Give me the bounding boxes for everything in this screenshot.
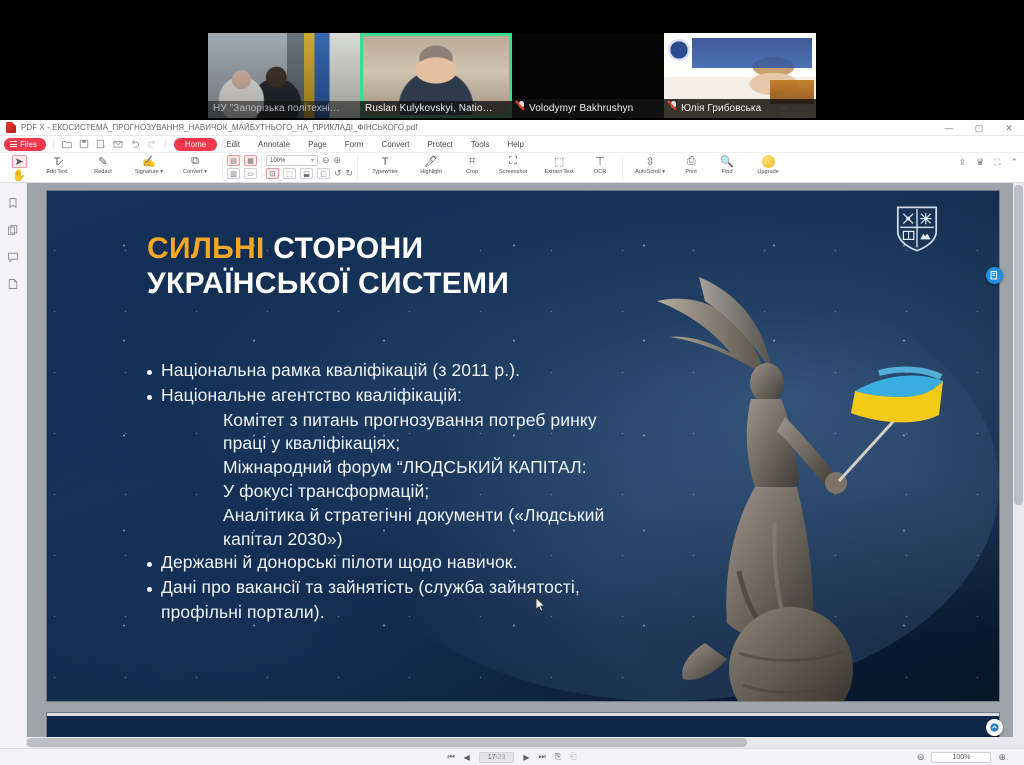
toolbar-ocr-label: OCR <box>594 169 606 175</box>
horizontal-scrollbar[interactable] <box>27 737 1013 748</box>
toolbar-redact[interactable]: ✎ Redact <box>80 155 126 175</box>
rotate-left-icon[interactable]: ↺ <box>334 168 342 179</box>
participant-tile-1[interactable]: НУ "Запорізька політехні… <box>208 33 360 118</box>
bullet-dot-icon <box>147 395 152 400</box>
crop-icon: ⌗ <box>469 155 475 168</box>
slide-title: СИЛЬНІ СТОРОНИ УКРАЇНСЬКОЇ СИСТЕМИ <box>147 231 509 302</box>
participant-tile-4[interactable]: ДАЄ СТАРТ РОЗВИТКУ Юлія Грибовська <box>664 33 816 118</box>
status-zoom-value[interactable]: 100% <box>931 752 991 763</box>
toolbar-divider <box>222 156 223 179</box>
status-zoom-controls: ⊖ 100% ⊕ <box>917 752 1006 763</box>
zoom-video-strip: НУ "Запорізька політехні… Ruslan Kulykov… <box>0 0 1024 120</box>
vertical-scrollbar[interactable] <box>1013 183 1024 748</box>
select-cursor-icon[interactable]: ➤ <box>12 155 27 168</box>
pdf-page-17[interactable]: СИЛЬНІ СТОРОНИ УКРАЇНСЬКОЇ СИСТЕМИ Націо… <box>47 191 999 701</box>
total-pages-value: 23 <box>498 754 506 761</box>
toolbar-signature[interactable]: ✍ Signature ▾ <box>126 155 172 175</box>
tab-page[interactable]: Page <box>299 138 336 151</box>
vertical-scrollbar-thumb[interactable] <box>1014 185 1023 505</box>
toolbar-group-selection: ➤ ✋ <box>4 155 34 182</box>
toolbar-highlight[interactable]: 🖊 Highlight <box>408 155 454 175</box>
zoom-level-value: 100% <box>270 158 285 164</box>
zoom-out-icon[interactable]: ⊖ <box>322 155 330 166</box>
extract-text-icon: ⬚ <box>554 155 564 168</box>
single-page-view-icon[interactable]: ▤ <box>227 155 240 166</box>
muted-mic-icon <box>517 101 526 112</box>
book-view-icon[interactable]: ▭ <box>244 168 257 179</box>
ai-assistant-button[interactable] <box>986 267 1003 284</box>
document-scroll-region[interactable]: СИЛЬНІ СТОРОНИ УКРАЇНСЬКОЇ СИСТЕМИ Націо… <box>27 183 1024 748</box>
toolbar-ocr[interactable]: ⊤ OCR <box>582 155 618 175</box>
toolbar-find-label: Find <box>722 169 733 175</box>
window-title: PDF X - ЕКОСИСТЕМА_ПРОГНОЗУВАННЯ_НАВИЧОК… <box>21 123 418 132</box>
pdf-reader-window: PDF X - ЕКОСИСТЕМА_ПРОГНОЗУВАННЯ_НАВИЧОК… <box>0 120 1024 765</box>
close-button[interactable]: ✕ <box>994 120 1024 136</box>
left-sidebar-rail <box>0 183 27 748</box>
email-icon[interactable] <box>113 139 123 149</box>
ribbon-right-icons: ⇪ ♛ ⛶ ⌃ <box>959 157 1018 168</box>
ai-assistant-icon <box>989 270 1000 281</box>
rotate-right-icon[interactable]: ↻ <box>346 168 354 179</box>
two-page-view-icon[interactable]: ▥ <box>227 168 240 179</box>
quick-access-toolbar <box>53 139 166 149</box>
page-layout-icon[interactable]: ⎗ <box>570 752 576 762</box>
autoscroll-icon: ⇳ <box>645 155 654 168</box>
participant-name-3: Volodymyr Bakhrushyn <box>512 99 664 118</box>
tab-annotate[interactable]: Annotate <box>249 138 299 151</box>
slide-title-highlight: СИЛЬНІ <box>147 232 265 265</box>
toolbar-edit-text-label: Edit Text <box>46 169 67 175</box>
zoom-in-icon[interactable]: ⊕ <box>334 155 342 166</box>
edit-text-icon: T̷ <box>54 155 61 168</box>
fullscreen-icon[interactable]: ⛶ <box>994 157 1000 168</box>
redo-icon[interactable] <box>147 139 157 149</box>
previous-page-icon[interactable]: ◀ <box>464 753 470 762</box>
bullet-text: Дані про вакансії та зайнятість (служба … <box>161 576 580 600</box>
current-page-value: 17 <box>488 754 496 761</box>
toolbar-divider <box>261 156 262 179</box>
participant-name-1: НУ "Запорізька політехні… <box>208 101 360 118</box>
open-folder-icon[interactable] <box>62 139 72 149</box>
ocr-icon: ⊤ <box>595 155 605 168</box>
fit-actual-size-icon[interactable]: ⊡ <box>266 168 279 179</box>
bookmarks-icon[interactable] <box>7 197 19 209</box>
zoom-out-icon[interactable]: ⊖ <box>917 752 925 763</box>
toolbar-convert-label: Convert ▾ <box>183 169 207 175</box>
tab-edit[interactable]: Edit <box>217 138 249 151</box>
document-area: СИЛЬНІ СТОРОНИ УКРАЇНСЬКОЇ СИСТЕМИ Націо… <box>0 183 1024 748</box>
toolbar-highlight-label: Highlight <box>420 169 442 175</box>
toolbar-divider <box>357 156 358 179</box>
slide-title-rest: СТОРОНИ <box>265 232 424 265</box>
typewriter-icon: T <box>382 155 389 168</box>
crown-icon[interactable]: ♛ <box>976 157 984 168</box>
toolbar-print-label: Print <box>685 169 697 175</box>
maximize-button[interactable]: ▢ <box>964 120 994 136</box>
ribbon-tabs: Files Home Edit Annotate Page Form Conve… <box>0 136 1024 153</box>
toolbar-typewriter[interactable]: T Typewriter <box>362 155 408 175</box>
institute-banner <box>692 38 812 68</box>
bullet-text: Державні й донорські пілоти щодо навичок… <box>161 551 518 575</box>
ribbon-toolbar: ➤ ✋ T̷ Edit Text ✎ Redact ✍ Signature ▾ … <box>0 153 1024 183</box>
save-icon[interactable] <box>79 139 89 149</box>
attachments-icon[interactable] <box>7 278 19 290</box>
slide-title-line-2: УКРАЇНСЬКОЇ СИСТЕМИ <box>147 266 509 301</box>
next-page-icon[interactable]: ▶ <box>523 753 529 762</box>
hand-pan-icon[interactable]: ✋ <box>12 169 26 182</box>
toolbar-screenshot-label: Screenshot <box>499 169 527 175</box>
zoom-level-input[interactable]: 100%▾ <box>266 155 318 166</box>
screen: НУ "Запорізька політехні… Ruslan Kulykov… <box>0 0 1024 765</box>
slide-title-line-1: СИЛЬНІ СТОРОНИ <box>147 231 509 266</box>
muted-mic-icon <box>669 101 678 112</box>
toolbar-print[interactable]: ⎙ Print <box>673 155 709 175</box>
participant-tile-2[interactable]: Ruslan Kulykovskyi, Natio… <box>360 33 512 118</box>
hamburger-icon <box>10 141 17 147</box>
tab-form[interactable]: Form <box>336 138 373 151</box>
zoom-in-icon[interactable]: ⊕ <box>998 752 1006 763</box>
signature-icon: ✍ <box>142 155 156 168</box>
bullet-dot-icon <box>147 562 152 567</box>
bullet-text: Національне агентство кваліфікацій: <box>161 384 462 408</box>
goto-page-icon[interactable]: ⎘ <box>555 752 561 762</box>
page-navigation: ⏮ ◀ 17/23 ▶ ⏭ ⎘ ⎗ <box>447 752 576 763</box>
save-as-icon[interactable] <box>96 139 106 149</box>
share-icon[interactable]: ⇪ <box>959 157 967 168</box>
toolbar-extract-text-label: Extract Text <box>545 169 574 175</box>
participant-name-2: Ruslan Kulykovskyi, Natio… <box>360 101 512 118</box>
toolbar-find[interactable]: 🔍 Find <box>709 155 745 175</box>
status-bar: ⏮ ◀ 17/23 ▶ ⏭ ⎘ ⎗ ⊖ 100% ⊕ <box>0 748 1024 765</box>
toolbar-upgrade-label: Upgrade <box>757 169 778 175</box>
participant-tile-3[interactable]: Volodymyr Bakhrushyn <box>512 33 664 118</box>
page-number-input[interactable]: 17/23 <box>479 752 515 763</box>
toolbar-convert[interactable]: ⧉ Convert ▾ <box>172 155 218 175</box>
feedback-button[interactable] <box>986 719 1003 736</box>
redact-icon: ✎ <box>98 155 107 168</box>
toolbar-edit-text[interactable]: T̷ Edit Text <box>34 155 80 175</box>
comments-icon[interactable] <box>7 251 19 263</box>
tab-home[interactable]: Home <box>174 138 217 151</box>
toolbar-screenshot[interactable]: ⛶ Screenshot <box>490 155 536 175</box>
find-icon: 🔍 <box>720 155 734 168</box>
fit-page-icon[interactable]: ⬚ <box>283 168 296 179</box>
toolbar-extract-text[interactable]: ⬚ Extract Text <box>536 155 582 175</box>
fit-width-icon[interactable]: ⬓ <box>300 168 313 179</box>
collapse-ribbon-icon[interactable]: ⌃ <box>1010 157 1018 168</box>
toolbar-signature-label: Signature ▾ <box>135 169 163 175</box>
participant-name-4: Юлія Грибовська <box>664 99 816 118</box>
thumbnails-icon[interactable] <box>7 224 19 236</box>
window-titlebar: PDF X - ЕКОСИСТЕМА_ПРОГНОЗУВАННЯ_НАВИЧОК… <box>0 120 1024 136</box>
tab-help[interactable]: Help <box>498 138 532 151</box>
files-label: Files <box>20 140 37 149</box>
mouse-cursor-icon <box>535 597 546 612</box>
toolbar-crop-label: Crop <box>466 169 478 175</box>
highlight-icon: 🖊 <box>424 155 438 168</box>
toolbar-typewriter-label: Typewriter <box>372 169 398 175</box>
university-coat-of-arms-icon <box>893 204 941 254</box>
toolbar-redact-label: Redact <box>94 169 112 175</box>
toolbar-upgrade[interactable]: Upgrade <box>745 155 791 175</box>
pdf-document-icon <box>6 122 16 133</box>
bullet-text: Національна рамка кваліфікацій (з 2011 р… <box>161 359 520 383</box>
last-page-icon[interactable]: ⏭ <box>539 752 546 762</box>
bullet-dot-icon <box>147 587 152 592</box>
winged-victory-statue-image <box>639 271 959 701</box>
toolbar-crop[interactable]: ⌗ Crop <box>454 155 490 175</box>
print-icon: ⎙ <box>687 155 696 168</box>
fit-visible-icon[interactable]: ▢ <box>317 168 330 179</box>
screenshot-icon: ⛶ <box>509 155 517 168</box>
first-page-icon[interactable]: ⏮ <box>447 752 454 762</box>
tab-protect[interactable]: Protect <box>418 138 461 151</box>
files-menu-button[interactable]: Files <box>4 138 46 151</box>
window-controls: — ▢ ✕ <box>934 120 1024 136</box>
continuous-view-icon[interactable]: ▦ <box>244 155 257 166</box>
tab-convert[interactable]: Convert <box>372 138 418 151</box>
undo-icon[interactable] <box>130 139 140 149</box>
upgrade-icon <box>762 155 775 168</box>
feedback-icon <box>989 722 1000 733</box>
toolbar-group-view: ▤ ▦ ▥ ▭ <box>227 155 257 179</box>
tab-tools[interactable]: Tools <box>462 138 499 151</box>
bullet-dot-icon <box>147 370 152 375</box>
toolbar-select-hand-stack: ➤ ✋ <box>4 155 34 182</box>
minimize-button[interactable]: — <box>934 120 964 136</box>
toolbar-autoscroll-label: AutoScroll ▾ <box>635 169 665 175</box>
toolbar-divider <box>622 156 623 179</box>
toolbar-autoscroll[interactable]: ⇳ AutoScroll ▾ <box>627 155 673 175</box>
convert-icon: ⧉ <box>191 155 199 168</box>
horizontal-scrollbar-thumb[interactable] <box>27 738 747 747</box>
toolbar-group-zoom: 100%▾ ⊖ ⊕ ⊡ ⬚ ⬓ ▢ ↺ ↻ <box>266 155 353 179</box>
